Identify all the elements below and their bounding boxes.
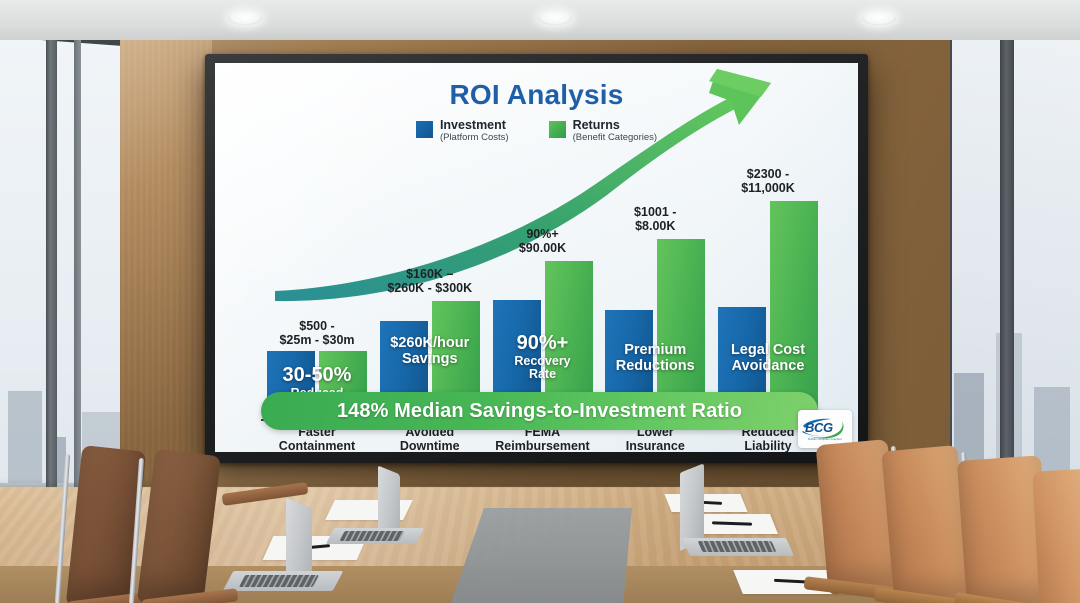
bar-chart: $500 - $25m - $30m 30-50% Reduced Incide…	[261, 159, 824, 421]
caption-line-2: Avoidance	[688, 359, 848, 374]
chart-legend: Investment (Platform Costs) Returns (Ben…	[215, 119, 858, 143]
value-line-1: $2300 -	[747, 167, 789, 181]
legend-swatch-returns-icon	[549, 121, 566, 138]
value-line-1: 90%+	[526, 227, 558, 241]
laptop-keyboard	[339, 531, 404, 541]
value-line-1: $160K –	[406, 267, 453, 281]
page-title: ROI Analysis	[215, 79, 858, 111]
boardroom-scene: ROI Analysis Investment (Platform Costs)…	[0, 0, 1080, 603]
legend-sublabel-returns: (Benefit Categories)	[573, 133, 657, 143]
legend-label-investment: Investment	[440, 119, 509, 132]
ceiling	[0, 0, 1080, 40]
legend-sublabel-investment: (Platform Costs)	[440, 133, 509, 143]
chair-backrest	[1032, 469, 1080, 603]
caption-line-1: Legal Cost	[688, 343, 848, 358]
bar-group-reduced-liability: $2300 - $11,000K Legal Cost Avoidance	[712, 159, 824, 419]
logo-mark-icon: BCG	[801, 417, 849, 439]
ceiling-light	[228, 12, 262, 25]
value-line-1: $500 -	[299, 319, 334, 333]
legend-item-returns: Returns (Benefit Categories)	[549, 119, 657, 143]
bar-pair	[712, 201, 824, 419]
axis-label-line-2: Insurance	[626, 439, 685, 452]
axis-label-line-2: Containment	[279, 439, 355, 452]
value-line-2: $25m - $30m	[279, 333, 354, 347]
legend-label-returns: Returns	[573, 119, 657, 132]
bar-groups: $500 - $25m - $30m 30-50% Reduced Incide…	[261, 159, 824, 419]
value-line-2: $260K - $300K	[387, 281, 472, 295]
bar-group-fema-reimbursement: 90%+ $90.00K 90%+ Recovery Rate	[487, 159, 599, 419]
legend-swatch-investment-icon	[416, 121, 433, 138]
value-line-2: $8.00K	[635, 219, 675, 233]
logo-wordmark: BCG	[805, 420, 833, 435]
axis-label-line-2: Downtime	[400, 439, 460, 452]
ceiling-light	[862, 12, 896, 25]
bar-returns[interactable]	[770, 201, 818, 419]
bar-group-faster-containment: $500 - $25m - $30m 30-50% Reduced Incide…	[261, 159, 373, 419]
laptop-keyboard	[239, 575, 319, 587]
screen-surface: ROI Analysis Investment (Platform Costs)…	[215, 63, 858, 452]
presentation-display[interactable]: ROI Analysis Investment (Platform Costs)…	[205, 54, 868, 463]
value-line-2: $11,000K	[741, 181, 795, 195]
axis-label-line-2: Reimbursement	[495, 439, 589, 452]
bar-group-value-label: $160K – $260K - $300K	[364, 267, 496, 295]
roi-analysis-slide: ROI Analysis Investment (Platform Costs)…	[215, 63, 858, 452]
ceiling-light	[538, 12, 572, 25]
bar-group-value-label: $1001 - $8.00K	[589, 205, 721, 233]
bar-group-lower-insurance: $1001 - $8.00K Premium Reductions	[599, 159, 711, 419]
bar-caption: Legal Cost Avoidance	[688, 343, 848, 374]
summary-banner-text: 148% Median Savings-to-Investment Ratio	[337, 400, 742, 423]
summary-banner: 148% Median Savings-to-Investment Ratio	[261, 392, 818, 430]
value-line-2: $90.00K	[519, 241, 566, 255]
laptop-keyboard	[698, 541, 777, 552]
axis-label-line-2: Liability	[744, 439, 791, 452]
legend-item-investment: Investment (Platform Costs)	[416, 119, 509, 143]
bar-group-value-label: $2300 - $11,000K	[702, 167, 834, 195]
value-line-1: $1001 -	[634, 205, 676, 219]
